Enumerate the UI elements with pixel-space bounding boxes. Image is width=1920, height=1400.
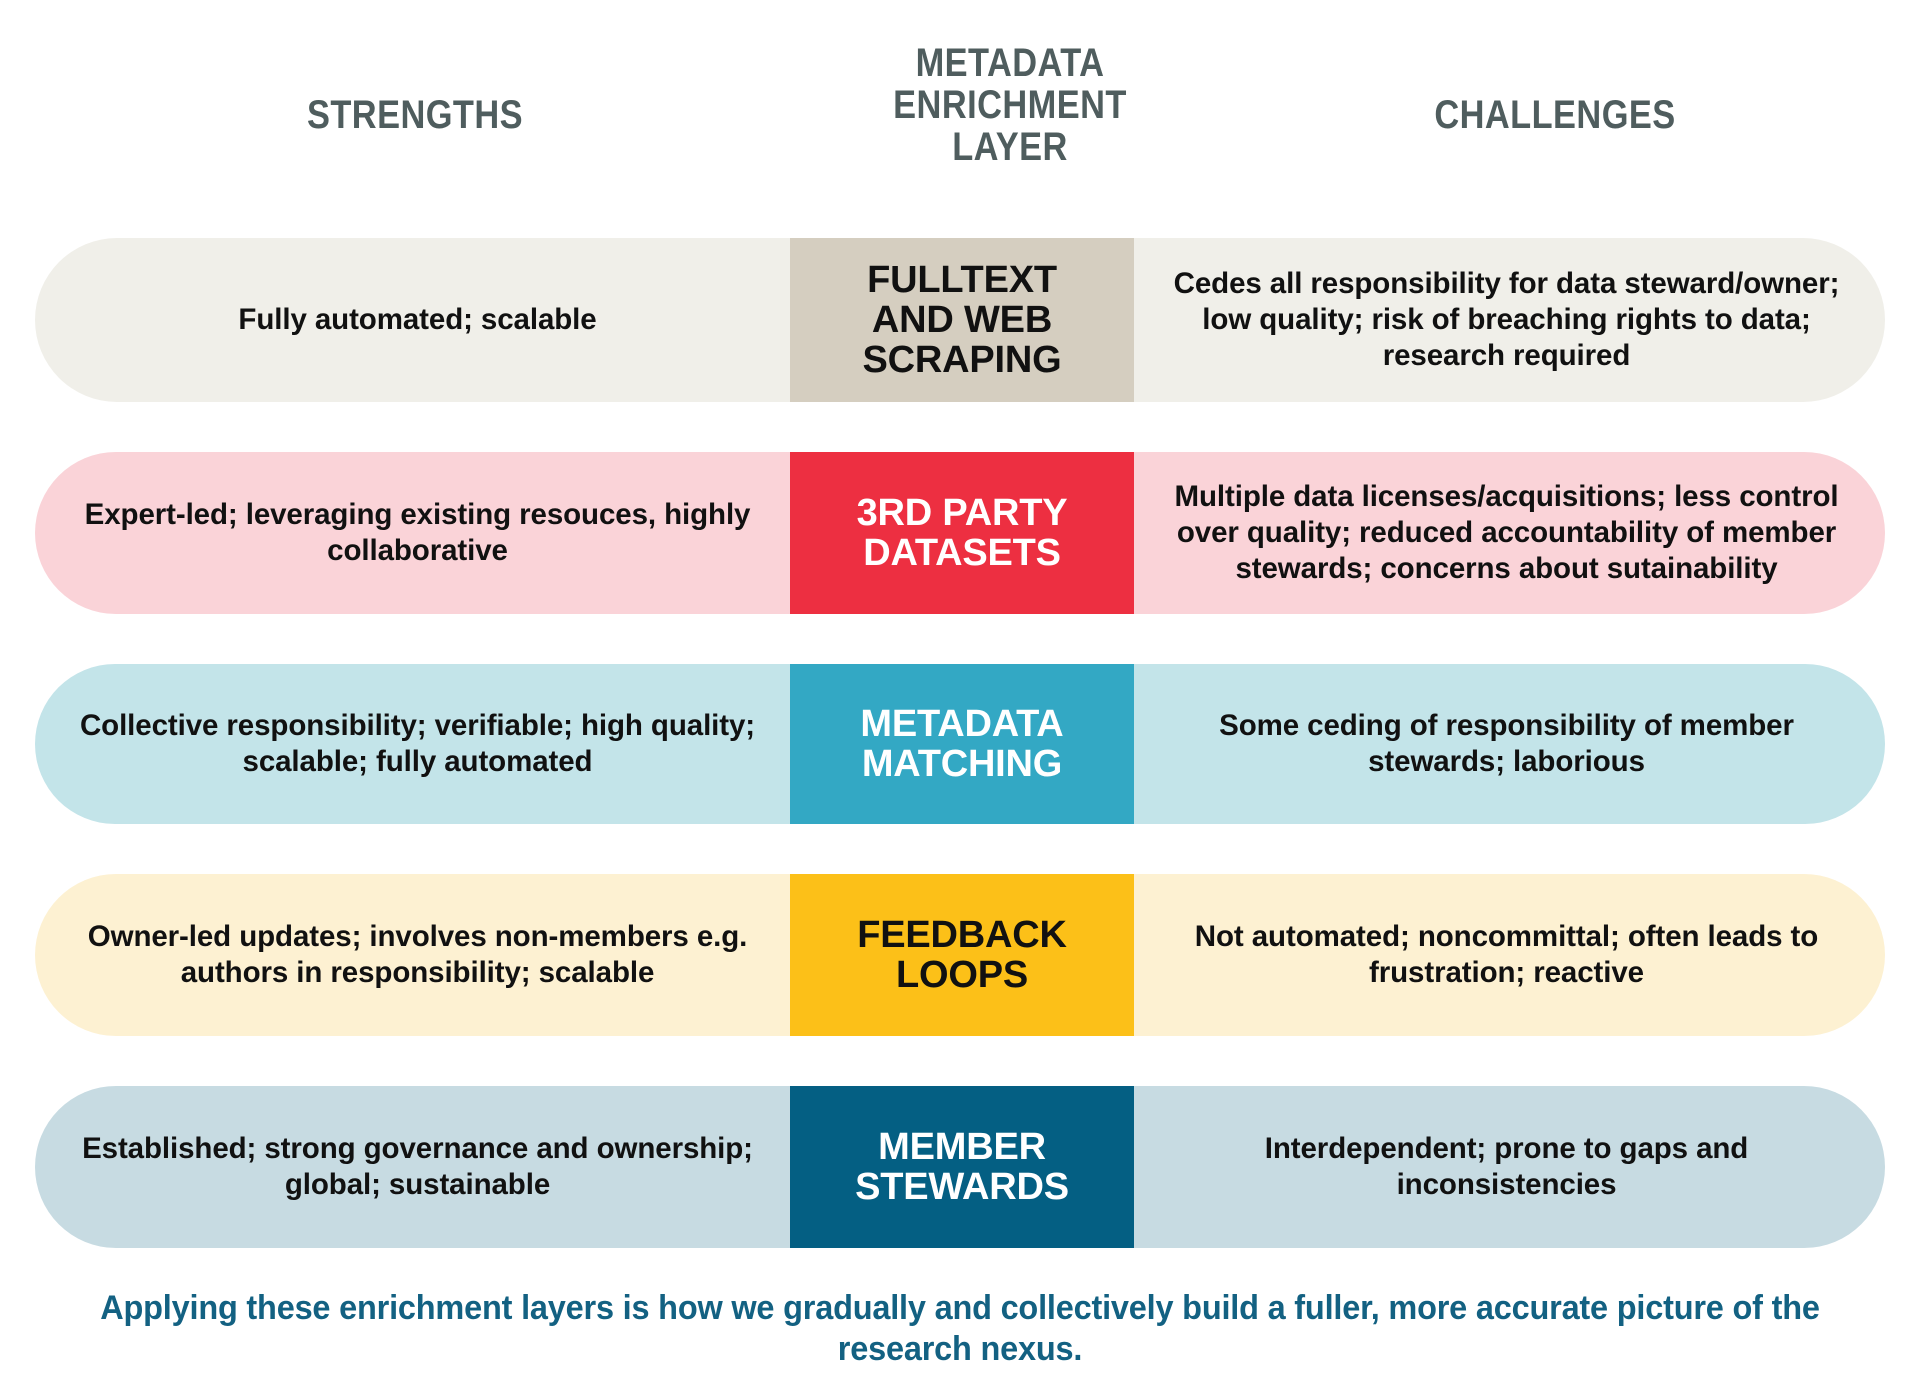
challenge-cell: Interdependent; prone to gaps and incons… xyxy=(1134,1086,1885,1248)
strength-text: Collective responsibility; verifiable; h… xyxy=(79,708,756,780)
layer-block-metadata-matching: METADATA MATCHING xyxy=(790,664,1134,824)
header-challenges: CHALLENGES xyxy=(1271,28,1839,136)
strength-text: Expert-led; leveraging existing resouces… xyxy=(79,497,756,569)
strength-text: Owner-led updates; involves non-members … xyxy=(79,919,756,991)
layer-block-feedback-loops: FEEDBACK LOOPS xyxy=(790,874,1134,1036)
challenge-text: Interdependent; prone to gaps and incons… xyxy=(1168,1131,1845,1203)
header-metadata-enrichment-layer: METADATA ENRICHMENT LAYER xyxy=(825,28,1195,168)
challenge-cell: Not automated; noncommittal; often leads… xyxy=(1134,874,1885,1036)
header-strengths: STRENGTHS xyxy=(88,28,742,136)
strength-cell: Expert-led; leveraging existing resouces… xyxy=(35,452,790,614)
footer-caption-text: Applying these enrichment layers is how … xyxy=(91,1288,1829,1370)
challenge-text: Cedes all responsibility for data stewar… xyxy=(1168,266,1845,374)
layer-label: METADATA MATCHING xyxy=(860,704,1063,785)
row-fulltext-and-web-scraping: Fully automated; scalable FULLTEXT AND W… xyxy=(35,238,1885,402)
enrichment-layer-rows: Fully automated; scalable FULLTEXT AND W… xyxy=(0,238,1920,1248)
challenge-text: Some ceding of responsibility of member … xyxy=(1168,708,1845,780)
strength-cell: Collective responsibility; verifiable; h… xyxy=(35,664,790,824)
strength-cell: Established; strong governance and owner… xyxy=(35,1086,790,1248)
strength-text: Established; strong governance and owner… xyxy=(79,1131,756,1203)
layer-block-member-stewards: MEMBER STEWARDS xyxy=(790,1086,1134,1248)
challenge-text: Multiple data licenses/acquisitions; les… xyxy=(1168,479,1845,587)
layer-label: MEMBER STEWARDS xyxy=(855,1127,1069,1208)
row-3rd-party-datasets: Expert-led; leveraging existing resouces… xyxy=(35,452,1885,614)
layer-block-fulltext-and-web-scraping: FULLTEXT AND WEB SCRAPING xyxy=(790,238,1134,402)
diagram-canvas: STRENGTHS METADATA ENRICHMENT LAYER CHAL… xyxy=(0,0,1920,1400)
row-feedback-loops: Owner-led updates; involves non-members … xyxy=(35,874,1885,1036)
strength-text: Fully automated; scalable xyxy=(238,302,596,338)
layer-label: FULLTEXT AND WEB SCRAPING xyxy=(863,260,1062,381)
column-headers: STRENGTHS METADATA ENRICHMENT LAYER CHAL… xyxy=(35,28,1885,168)
challenge-cell: Cedes all responsibility for data stewar… xyxy=(1134,238,1885,402)
strength-cell: Fully automated; scalable xyxy=(35,238,790,402)
footer-caption: Applying these enrichment layers is how … xyxy=(50,1288,1870,1370)
layer-label: 3RD PARTY DATASETS xyxy=(857,493,1068,574)
challenge-cell: Some ceding of responsibility of member … xyxy=(1134,664,1885,824)
row-member-stewards: Established; strong governance and owner… xyxy=(35,1086,1885,1248)
strength-cell: Owner-led updates; involves non-members … xyxy=(35,874,790,1036)
layer-label: FEEDBACK LOOPS xyxy=(857,915,1067,996)
challenge-cell: Multiple data licenses/acquisitions; les… xyxy=(1134,452,1885,614)
row-metadata-matching: Collective responsibility; verifiable; h… xyxy=(35,664,1885,824)
layer-block-3rd-party-datasets: 3RD PARTY DATASETS xyxy=(790,452,1134,614)
challenge-text: Not automated; noncommittal; often leads… xyxy=(1168,919,1845,991)
